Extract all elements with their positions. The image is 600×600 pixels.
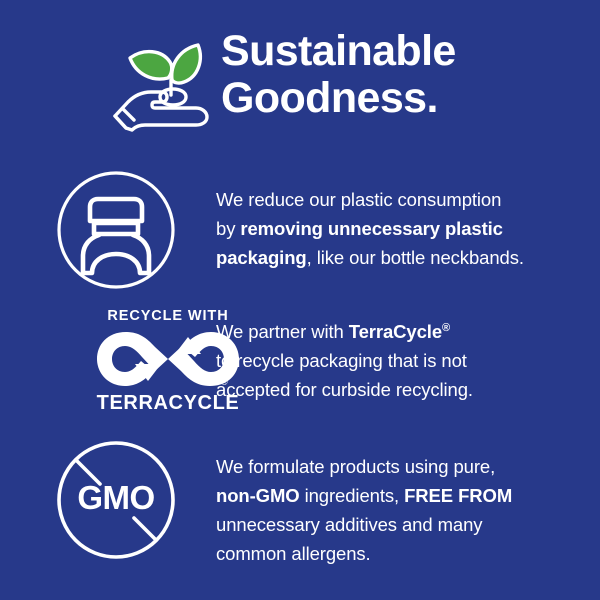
text-line: accepted for curbside recycling. <box>216 375 588 404</box>
feature-text-non-gmo: We formulate products using pure,non-GMO… <box>216 452 588 568</box>
bottle-neckband-icon <box>52 168 180 296</box>
gmo-label: GMO <box>52 478 180 518</box>
text-line: to recycle packaging that is not <box>216 346 588 375</box>
title-line-2: Goodness. <box>221 75 551 122</box>
text-line: We reduce our plastic consumption <box>216 185 588 214</box>
terracycle-logo: RECYCLE WITH <box>52 302 180 430</box>
no-gmo-icon: GMO <box>52 438 180 566</box>
hand-holding-sprout-icon <box>112 32 220 132</box>
header: Sustainable Goodness. <box>0 0 600 150</box>
feature-row-plastic-reduction: We reduce our plastic consumptionby remo… <box>0 168 600 298</box>
feature-row-terracycle: RECYCLE WITH <box>0 302 600 427</box>
text-line: packaging, like our bottle neckbands. <box>216 243 588 272</box>
text-line: common allergens. <box>216 539 588 568</box>
text-line: unnecessary additives and many <box>216 510 588 539</box>
feature-text-terracycle: We partner with TerraCycle®to recycle pa… <box>216 317 588 404</box>
feature-row-non-gmo: GMO We formulate products using pure,non… <box>0 438 600 573</box>
text-line: We partner with TerraCycle® <box>216 317 588 346</box>
text-line: non-GMO ingredients, FREE FROM <box>216 481 588 510</box>
feature-text-plastic-reduction: We reduce our plastic consumptionby remo… <box>216 185 588 272</box>
text-line: We formulate products using pure, <box>216 452 588 481</box>
text-line: by removing unnecessary plastic <box>216 214 588 243</box>
title-line-1: Sustainable <box>221 28 551 75</box>
sustainable-goodness-infographic: Sustainable Goodness. We reduce our plas… <box>0 0 600 600</box>
page-title: Sustainable Goodness. <box>221 28 551 122</box>
